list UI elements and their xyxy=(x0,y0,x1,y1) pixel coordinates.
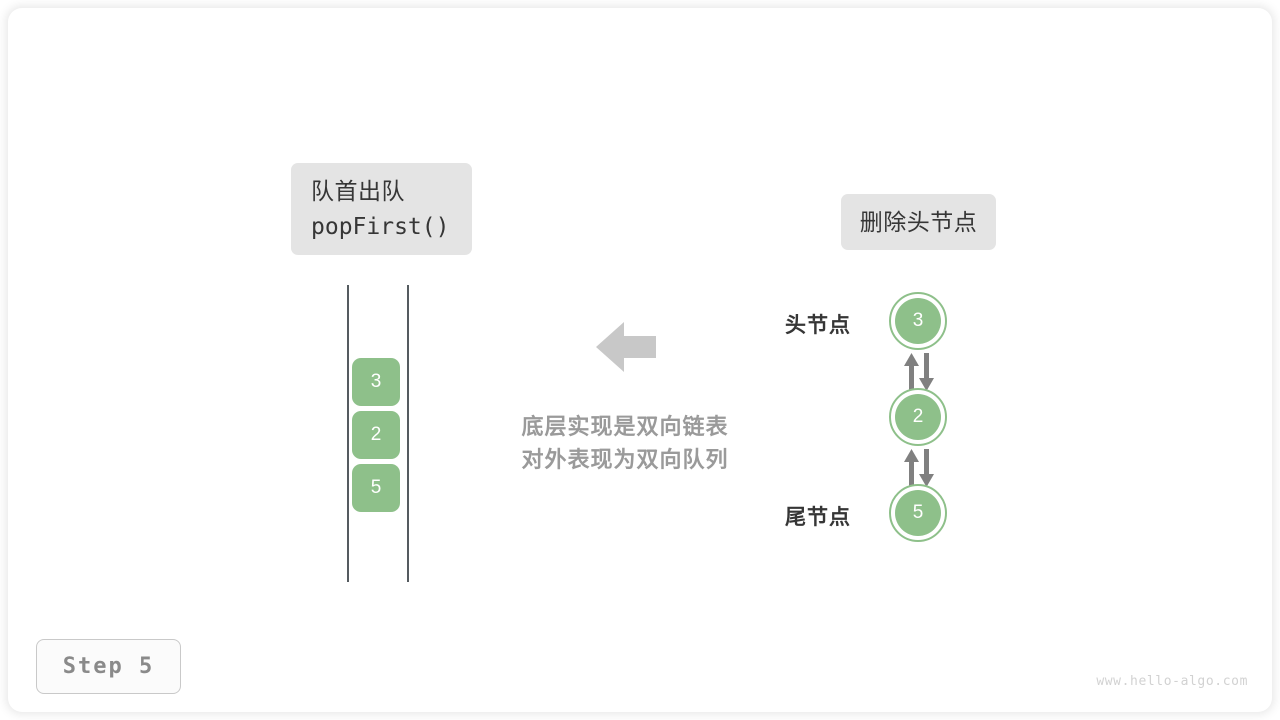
deque-cell: 2 xyxy=(352,411,400,459)
step-badge-label: Step 5 xyxy=(63,654,154,679)
watermark: www.hello-algo.com xyxy=(1096,674,1248,689)
deque-cell: 5 xyxy=(352,464,400,512)
step-badge: Step 5 xyxy=(36,639,181,694)
bidirectional-link-icon xyxy=(900,353,940,391)
diagram-caption: 底层实现是双向链表 对外表现为双向队列 xyxy=(455,410,795,476)
list-node-value: 3 xyxy=(895,298,941,344)
list-node: 3 xyxy=(889,292,947,350)
action-label-cn: 删除头节点 xyxy=(860,207,978,237)
doubly-linked-list: 头节点 尾节点 3 2 xyxy=(770,285,980,550)
left-arrow-icon xyxy=(596,320,656,374)
deque-column: 3 2 5 xyxy=(340,280,420,590)
tail-node-label: 尾节点 xyxy=(785,501,851,531)
operation-label-code: popFirst() xyxy=(311,209,452,245)
operation-label-box: 队首出队 popFirst() xyxy=(291,163,472,255)
caption-line-1: 底层实现是双向链表 xyxy=(455,410,795,443)
operation-label-cn: 队首出队 xyxy=(311,173,452,209)
deque-cell: 3 xyxy=(352,358,400,406)
list-node-value: 5 xyxy=(895,490,941,536)
list-node: 5 xyxy=(889,484,947,542)
list-node: 2 xyxy=(889,388,947,446)
caption-line-2: 对外表现为双向队列 xyxy=(455,443,795,476)
bidirectional-link-icon xyxy=(900,449,940,487)
deque-rail-left xyxy=(347,285,349,582)
action-label-box: 删除头节点 xyxy=(841,194,996,250)
deque-rail-right xyxy=(407,285,409,582)
list-node-value: 2 xyxy=(895,394,941,440)
diagram-canvas: 队首出队 popFirst() 删除头节点 3 2 5 底层实现是双向链表 对外… xyxy=(0,0,1280,720)
head-node-label: 头节点 xyxy=(785,309,851,339)
